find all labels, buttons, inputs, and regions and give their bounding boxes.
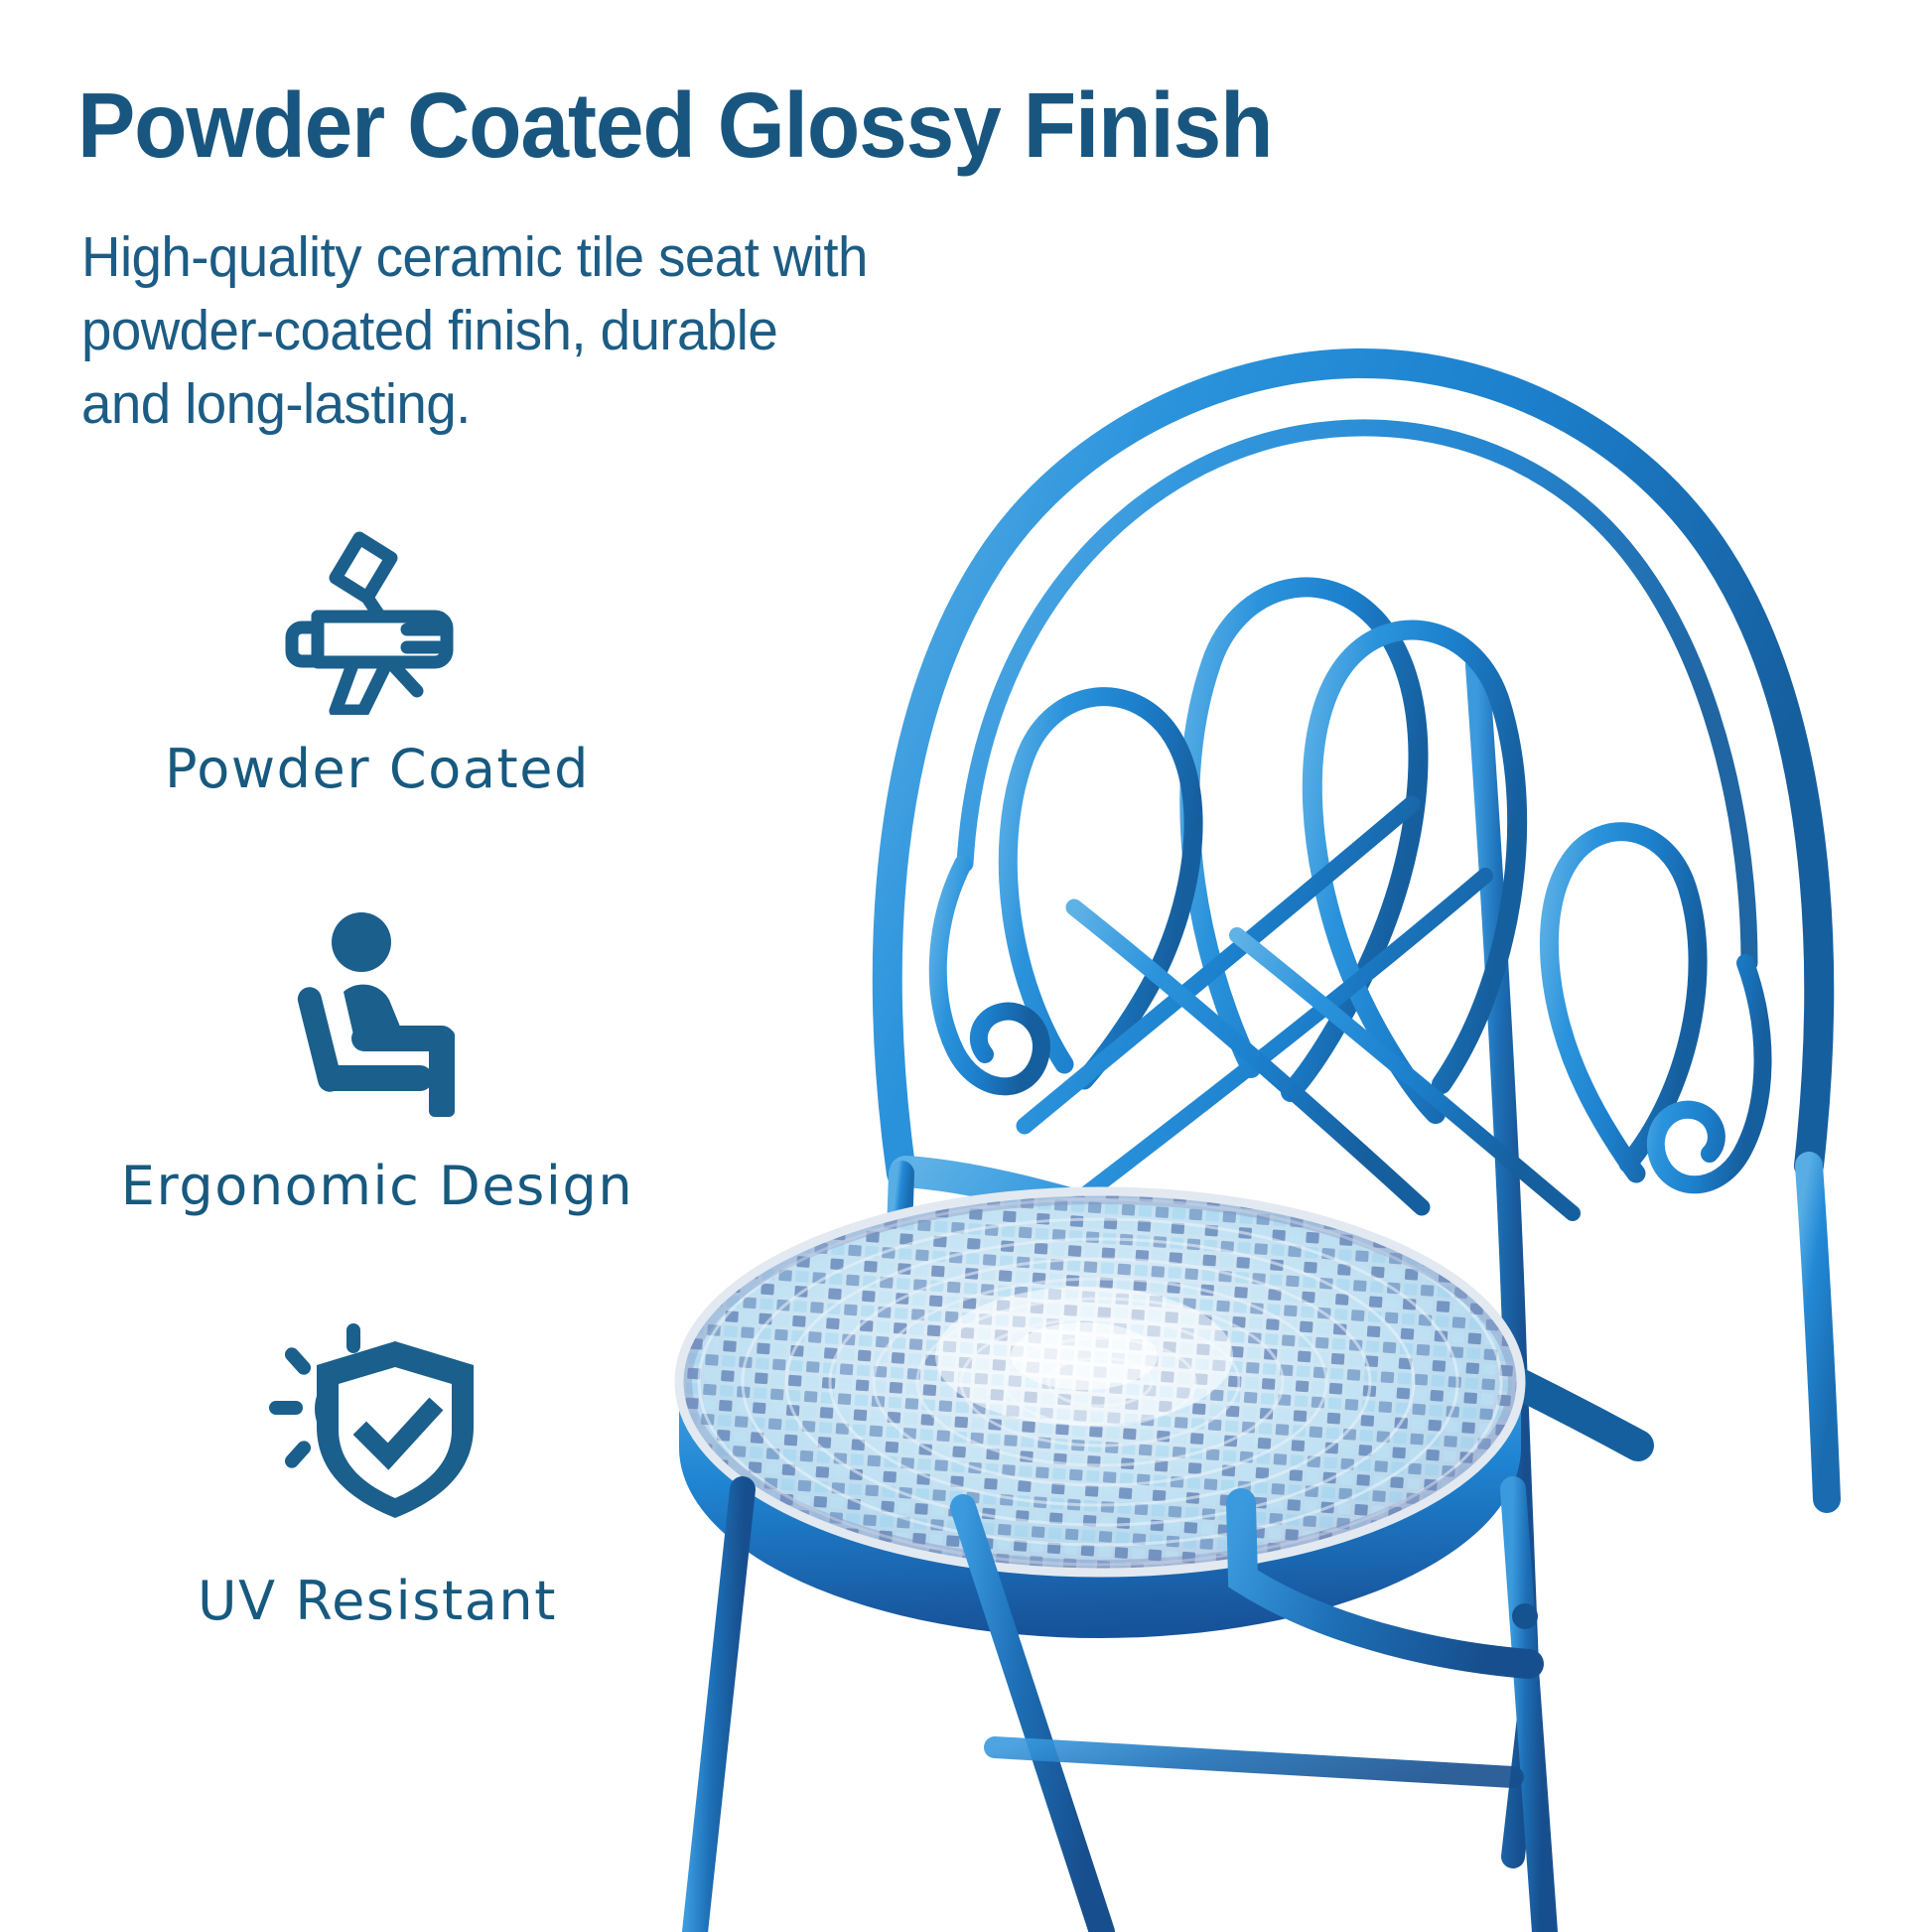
seated-person-icon	[69, 889, 685, 1137]
sun-shield-check-icon	[69, 1304, 685, 1552]
page-title: Powder Coated Glossy Finish	[77, 77, 1310, 174]
feature-item-powder-coated: Powder Coated	[69, 501, 685, 889]
spray-gun-icon	[69, 501, 685, 730]
feature-label-powder-coated: Powder Coated	[69, 738, 685, 800]
feature-label-uv-resistant: UV Resistant	[69, 1570, 685, 1632]
feature-list: Powder Coated	[69, 501, 685, 1701]
product-image-bistro-chair	[635, 169, 1932, 1932]
feature-item-uv-resistant: UV Resistant	[69, 1304, 685, 1701]
infographic-panel: Powder Coated Glossy Finish High-quality…	[0, 0, 1932, 1932]
feature-label-ergonomic-design: Ergonomic Design	[69, 1155, 685, 1217]
feature-item-ergonomic-design: Ergonomic Design	[69, 889, 685, 1304]
